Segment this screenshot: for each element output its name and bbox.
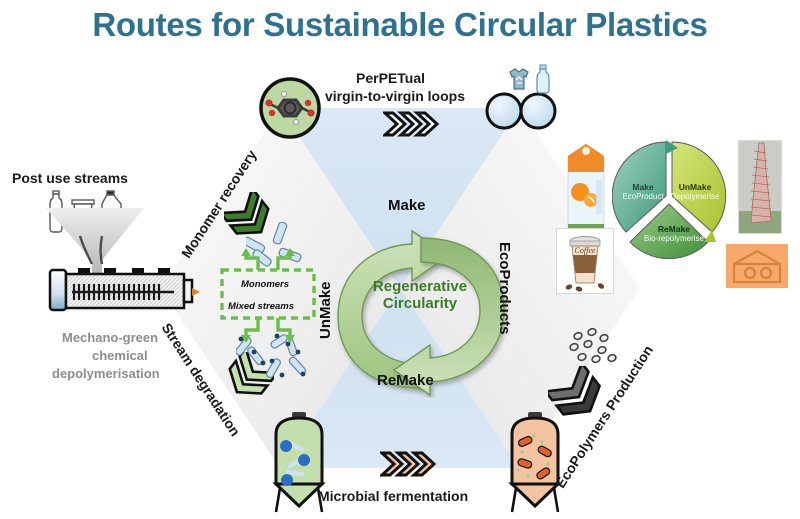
pie-segment-remake: ReMake Bio-repolymerise	[638, 224, 710, 243]
recycled-tshirt-icon	[506, 66, 532, 97]
infographic-canvas: Routes for Sustainable Circular Plastics	[0, 0, 800, 516]
pie-make-subtitle: EcoProduct	[620, 192, 666, 201]
pie-unmake-subtitle: Depolymerise	[668, 192, 722, 201]
make-unmake-remake-pie	[612, 138, 728, 271]
depolymerisation-label-line3: depolymerisation	[52, 366, 160, 381]
pie-make-title: Make	[620, 182, 666, 192]
eco-shelter-icon	[726, 244, 788, 293]
monomers-mixed-streams-box	[212, 248, 322, 349]
mixed-streams-label: Mixed streams	[228, 301, 294, 312]
triple-chevron-gray-icon	[548, 366, 610, 433]
pie-unmake-title: UnMake	[668, 182, 722, 192]
label-remake: ReMake	[377, 372, 434, 389]
triple-chevron-right-icon-top	[383, 110, 445, 143]
triple-chevron-right-icon-bottom	[380, 450, 442, 483]
depolymerisation-label-line2: chemical	[92, 348, 148, 363]
pie-remake-title: ReMake	[638, 224, 710, 234]
pie-segment-unmake: UnMake Depolymerise	[668, 182, 722, 201]
post-use-streams-label: Post use streams	[12, 170, 128, 186]
depolymerisation-label-line1: Mechano-green	[62, 330, 158, 345]
terephthalate-molecule-icon	[258, 76, 322, 145]
center-title-line1: Regenerative	[352, 278, 488, 295]
label-make: Make	[388, 197, 426, 214]
microbial-fermentation-label: Microbial fermentation	[318, 488, 468, 504]
coffee-cup-label-text: Coffee	[575, 246, 596, 255]
plastic-bottle-icon	[534, 64, 552, 99]
perpetual-headline-line2: virgin-to-virgin loops	[325, 88, 465, 104]
pie-segment-make: Make EcoProduct	[620, 182, 666, 201]
perpetual-headline-line1: PerPETual	[356, 70, 425, 86]
3d-printed-column-photo	[738, 140, 782, 234]
pie-remake-subtitle: Bio-repolymerise	[638, 234, 710, 243]
label-ecoproducts: EcoProducts	[496, 242, 513, 335]
page-title: Routes for Sustainable Circular Plastics	[0, 6, 800, 44]
takeaway-coffee-cup-icon: Coffee	[556, 228, 614, 294]
center-title-line2: Circularity	[352, 295, 488, 312]
monomers-label: Monomers	[241, 279, 289, 290]
screw-extruder-icon	[48, 262, 202, 327]
center-title: Regenerative Circularity	[352, 278, 488, 312]
